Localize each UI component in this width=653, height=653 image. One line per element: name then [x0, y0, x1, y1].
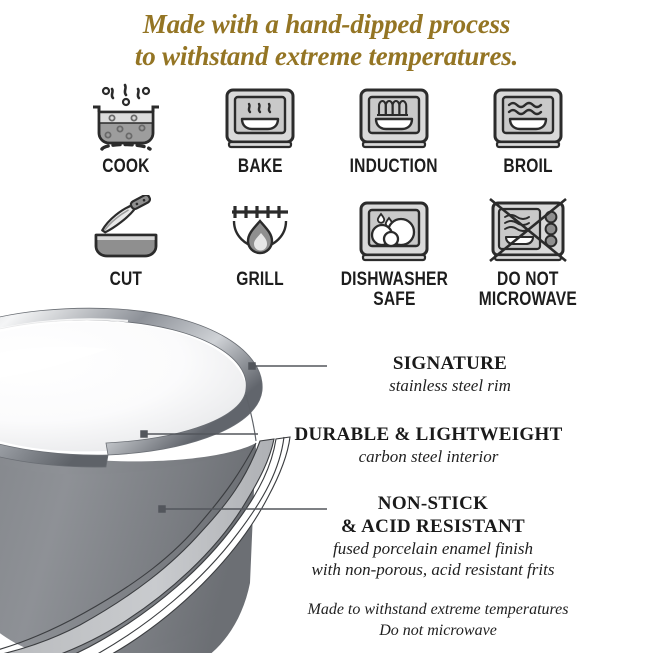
grill-icon [214, 195, 306, 267]
icon-label-do-not-microwave: DO NOT MICROWAVE [479, 270, 577, 310]
callout-sub-line-1: fused porcelain enamel finish [333, 539, 533, 558]
callout-non-stick-acid-resistant: NON-STICK & ACID RESISTANT fused porcela… [268, 492, 598, 580]
icon-cell-dishwasher-safe: DISHWASHER SAFE [330, 195, 458, 310]
headline-line-1: Made with a hand-dipped process [143, 9, 510, 39]
callout-sub-line-1: carbon steel interior [359, 447, 499, 466]
callout-title-line-1: SIGNATURE [393, 353, 507, 374]
icon-label-dishwasher-safe: DISHWASHER SAFE [340, 270, 447, 310]
icon-label-text: INDUCTION [350, 156, 438, 177]
icon-cell-do-not-microwave: DO NOT MICROWAVE [464, 195, 592, 310]
icon-label-text-2: SAFE [340, 290, 447, 310]
feature-icon-grid: COOK [62, 82, 592, 310]
icon-cell-cook: COOK [62, 82, 190, 177]
icon-label-text: DO NOT [497, 269, 559, 290]
icon-label-text-2: MICROWAVE [479, 290, 577, 310]
do-not-microwave-icon [482, 195, 574, 267]
page-headline: Made with a hand-dipped process to withs… [0, 8, 653, 72]
dishwasher-safe-icon [348, 195, 440, 267]
icon-label-text: COOK [102, 156, 149, 177]
callout-sub-line-1: stainless steel rim [389, 376, 511, 395]
icon-cell-cut: CUT [62, 195, 190, 290]
cook-icon [80, 82, 172, 154]
callout-title-line-1: DURABLE & LIGHTWEIGHT [294, 424, 562, 445]
footer-note: Made to withstand extreme temperatures D… [238, 599, 638, 641]
pan-cutaway-illustration [0, 283, 328, 653]
broil-icon [482, 82, 574, 154]
icon-label-bake: BAKE [238, 157, 283, 177]
callout-subtitle: carbon steel interior [256, 446, 601, 467]
icon-cell-grill: GRILL [196, 195, 324, 290]
icon-cell-broil: BROIL [464, 82, 592, 177]
footer-line-1: Made to withstand extreme temperatures [308, 601, 569, 618]
callout-title-line-1: NON-STICK [378, 493, 488, 514]
bake-icon [214, 82, 306, 154]
callout-signature: SIGNATURE stainless steel rim [300, 352, 600, 396]
icon-cell-bake: BAKE [196, 82, 324, 177]
icon-label-text: BAKE [238, 156, 283, 177]
icon-cell-induction: INDUCTION [330, 82, 458, 177]
icon-label-text: BROIL [503, 156, 552, 177]
cut-icon [80, 195, 172, 267]
headline-line-2: to withstand extreme temperatures. [0, 40, 653, 72]
callout-subtitle: fused porcelain enamel finish with non-p… [268, 538, 598, 580]
callout-durable-lightweight: DURABLE & LIGHTWEIGHT carbon steel inter… [256, 423, 601, 467]
callout-title: DURABLE & LIGHTWEIGHT [256, 423, 601, 446]
callout-sub-line-2: with non-porous, acid resistant frits [268, 559, 598, 580]
callout-title: SIGNATURE [300, 352, 600, 375]
callout-subtitle: stainless steel rim [300, 375, 600, 396]
footer-line-2: Do not microwave [238, 620, 638, 641]
icon-label-text: DISHWASHER [340, 269, 447, 290]
infographic-page: Made with a hand-dipped process to withs… [0, 0, 653, 653]
induction-icon [348, 82, 440, 154]
callout-title: NON-STICK & ACID RESISTANT [268, 492, 598, 538]
icon-row-1: COOK [62, 82, 592, 177]
callout-title-line-2: & ACID RESISTANT [268, 515, 598, 538]
icon-label-induction: INDUCTION [350, 157, 438, 177]
icon-label-cook: COOK [102, 157, 149, 177]
icon-label-broil: BROIL [503, 157, 552, 177]
